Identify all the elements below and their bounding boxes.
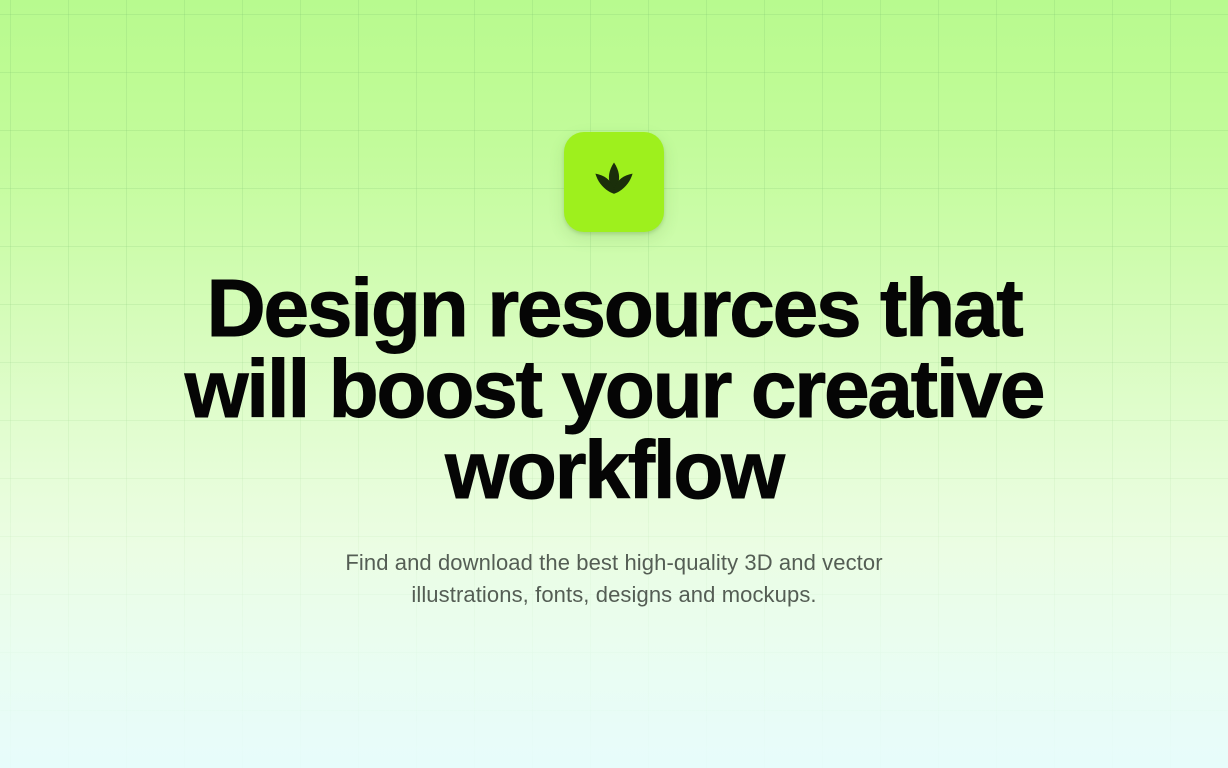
page-subtitle: Find and download the best high-quality … (284, 547, 944, 611)
page-subtitle-line-2: illustrations, fonts, designs and mockup… (284, 579, 944, 611)
page-subtitle-line-1: Find and download the best high-quality … (284, 547, 944, 579)
brand-logo-badge[interactable] (564, 132, 664, 232)
hero-section: Design resources that will boost your cr… (0, 0, 1228, 768)
hero-content: Design resources that will boost your cr… (0, 132, 1228, 611)
page-title-line-3: workflow (174, 430, 1054, 511)
page-title: Design resources that will boost your cr… (174, 268, 1054, 511)
sprout-leaf-icon (586, 154, 642, 210)
page-title-line-2: will boost your creative (174, 349, 1054, 430)
page-title-line-1: Design resources that (174, 268, 1054, 349)
